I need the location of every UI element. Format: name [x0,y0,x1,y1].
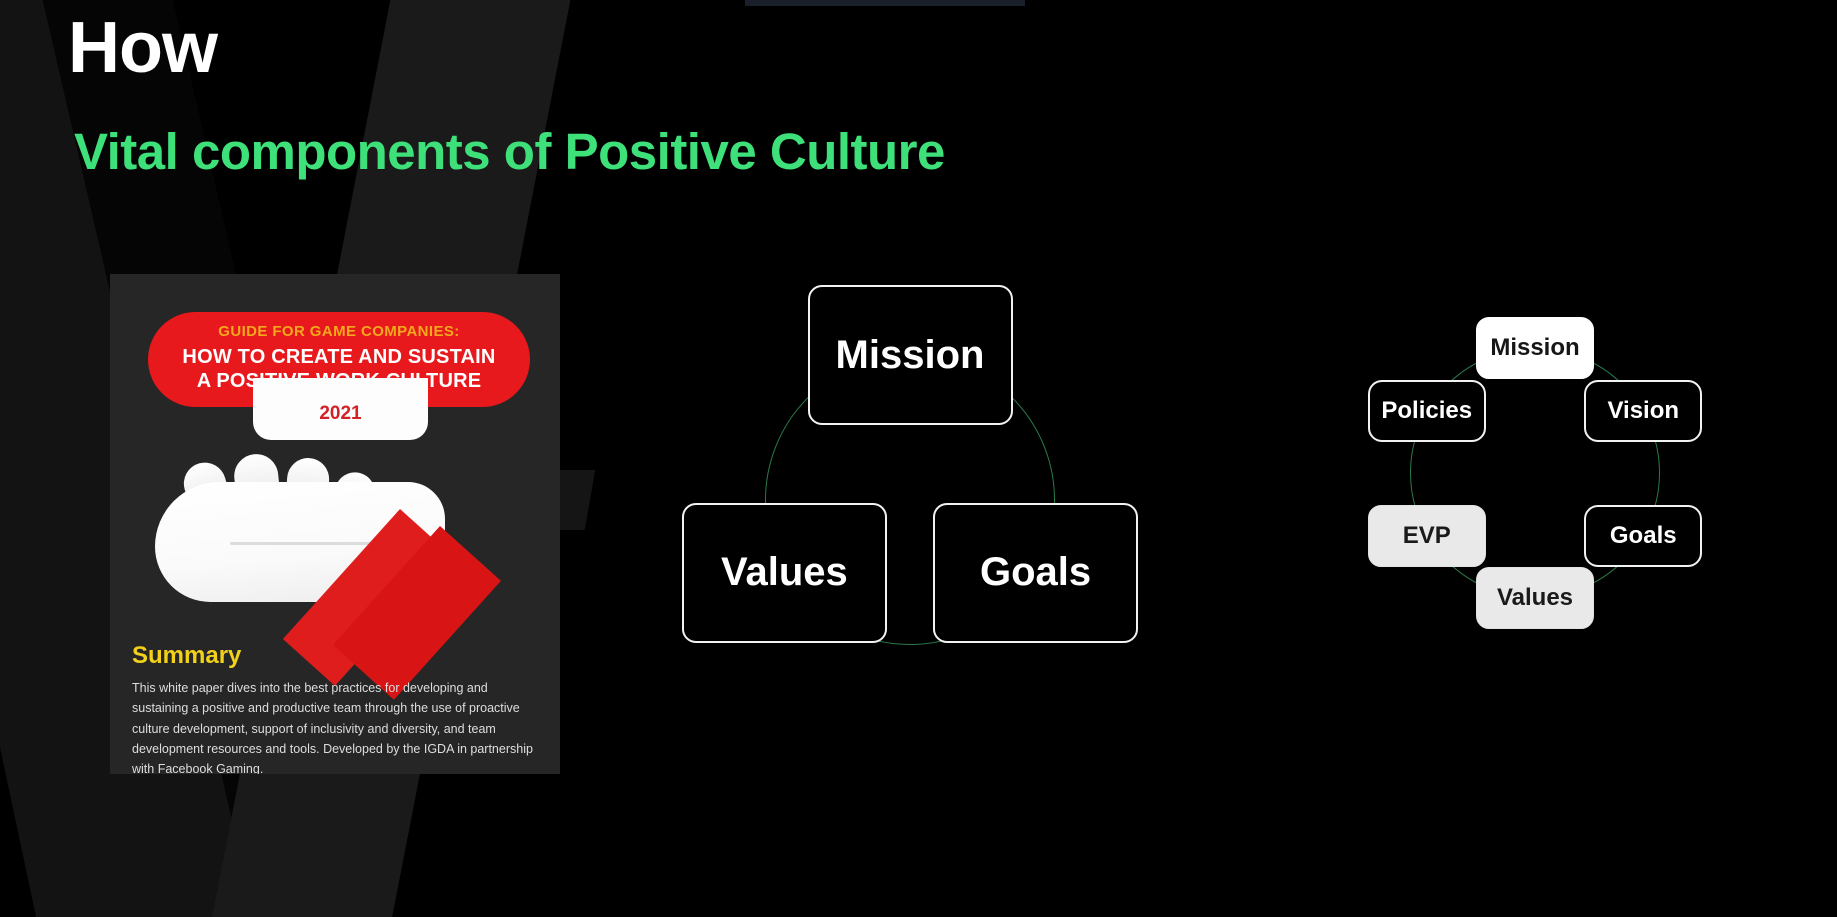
cycle-node-label: Goals [980,550,1091,595]
cycle-node-vision[interactable]: Vision [1584,380,1702,442]
cycle-node-mission[interactable]: Mission [1476,317,1594,379]
cover-summary-body: This white paper dives into the best pra… [132,678,542,774]
cycle-node-label: Values [721,550,848,595]
three-component-cycle-diagram: MissionGoalsValues [640,300,1170,730]
cycle-node-values[interactable]: Values [1476,567,1594,629]
cover-kicker: GUIDE FOR GAME COMPANIES: [148,323,530,340]
whitepaper-cover-thumbnail[interactable]: GUIDE FOR GAME COMPANIES: HOW TO CREATE … [110,274,560,774]
cycle-node-label: Mission [1490,334,1579,362]
top-edge-strip [745,0,1025,6]
hand-palm-crease [230,542,380,545]
cover-title-line1: HOW TO CREATE AND SUSTAIN [182,346,495,368]
cycle-node-evp[interactable]: EVP [1368,505,1486,567]
six-component-cycle-diagram: MissionVisionGoalsValuesEVPPolicies [1300,300,1760,720]
open-hand-illustration [110,454,560,654]
cycle-node-values[interactable]: Values [682,503,887,643]
cover-summary-heading: Summary [132,642,241,670]
cycle-node-policies[interactable]: Policies [1368,380,1486,442]
cycle-node-label: Values [1497,584,1573,612]
cycle-node-label: Mission [836,333,985,378]
cycle-node-label: Policies [1381,397,1472,425]
cycle-node-label: Vision [1607,397,1679,425]
cycle-node-goals[interactable]: Goals [1584,505,1702,567]
page-title: How [68,12,217,84]
cover-year: 2021 [253,403,428,425]
cover-year-plate: 2021 [253,378,428,440]
page-subtitle: Vital components of Positive Culture [74,126,945,177]
cycle-node-label: Goals [1610,522,1677,550]
slide-canvas: How Vital components of Positive Culture… [0,0,1837,917]
cycle-node-mission[interactable]: Mission [808,285,1013,425]
cycle-node-goals[interactable]: Goals [933,503,1138,643]
cycle-node-label: EVP [1403,522,1451,550]
